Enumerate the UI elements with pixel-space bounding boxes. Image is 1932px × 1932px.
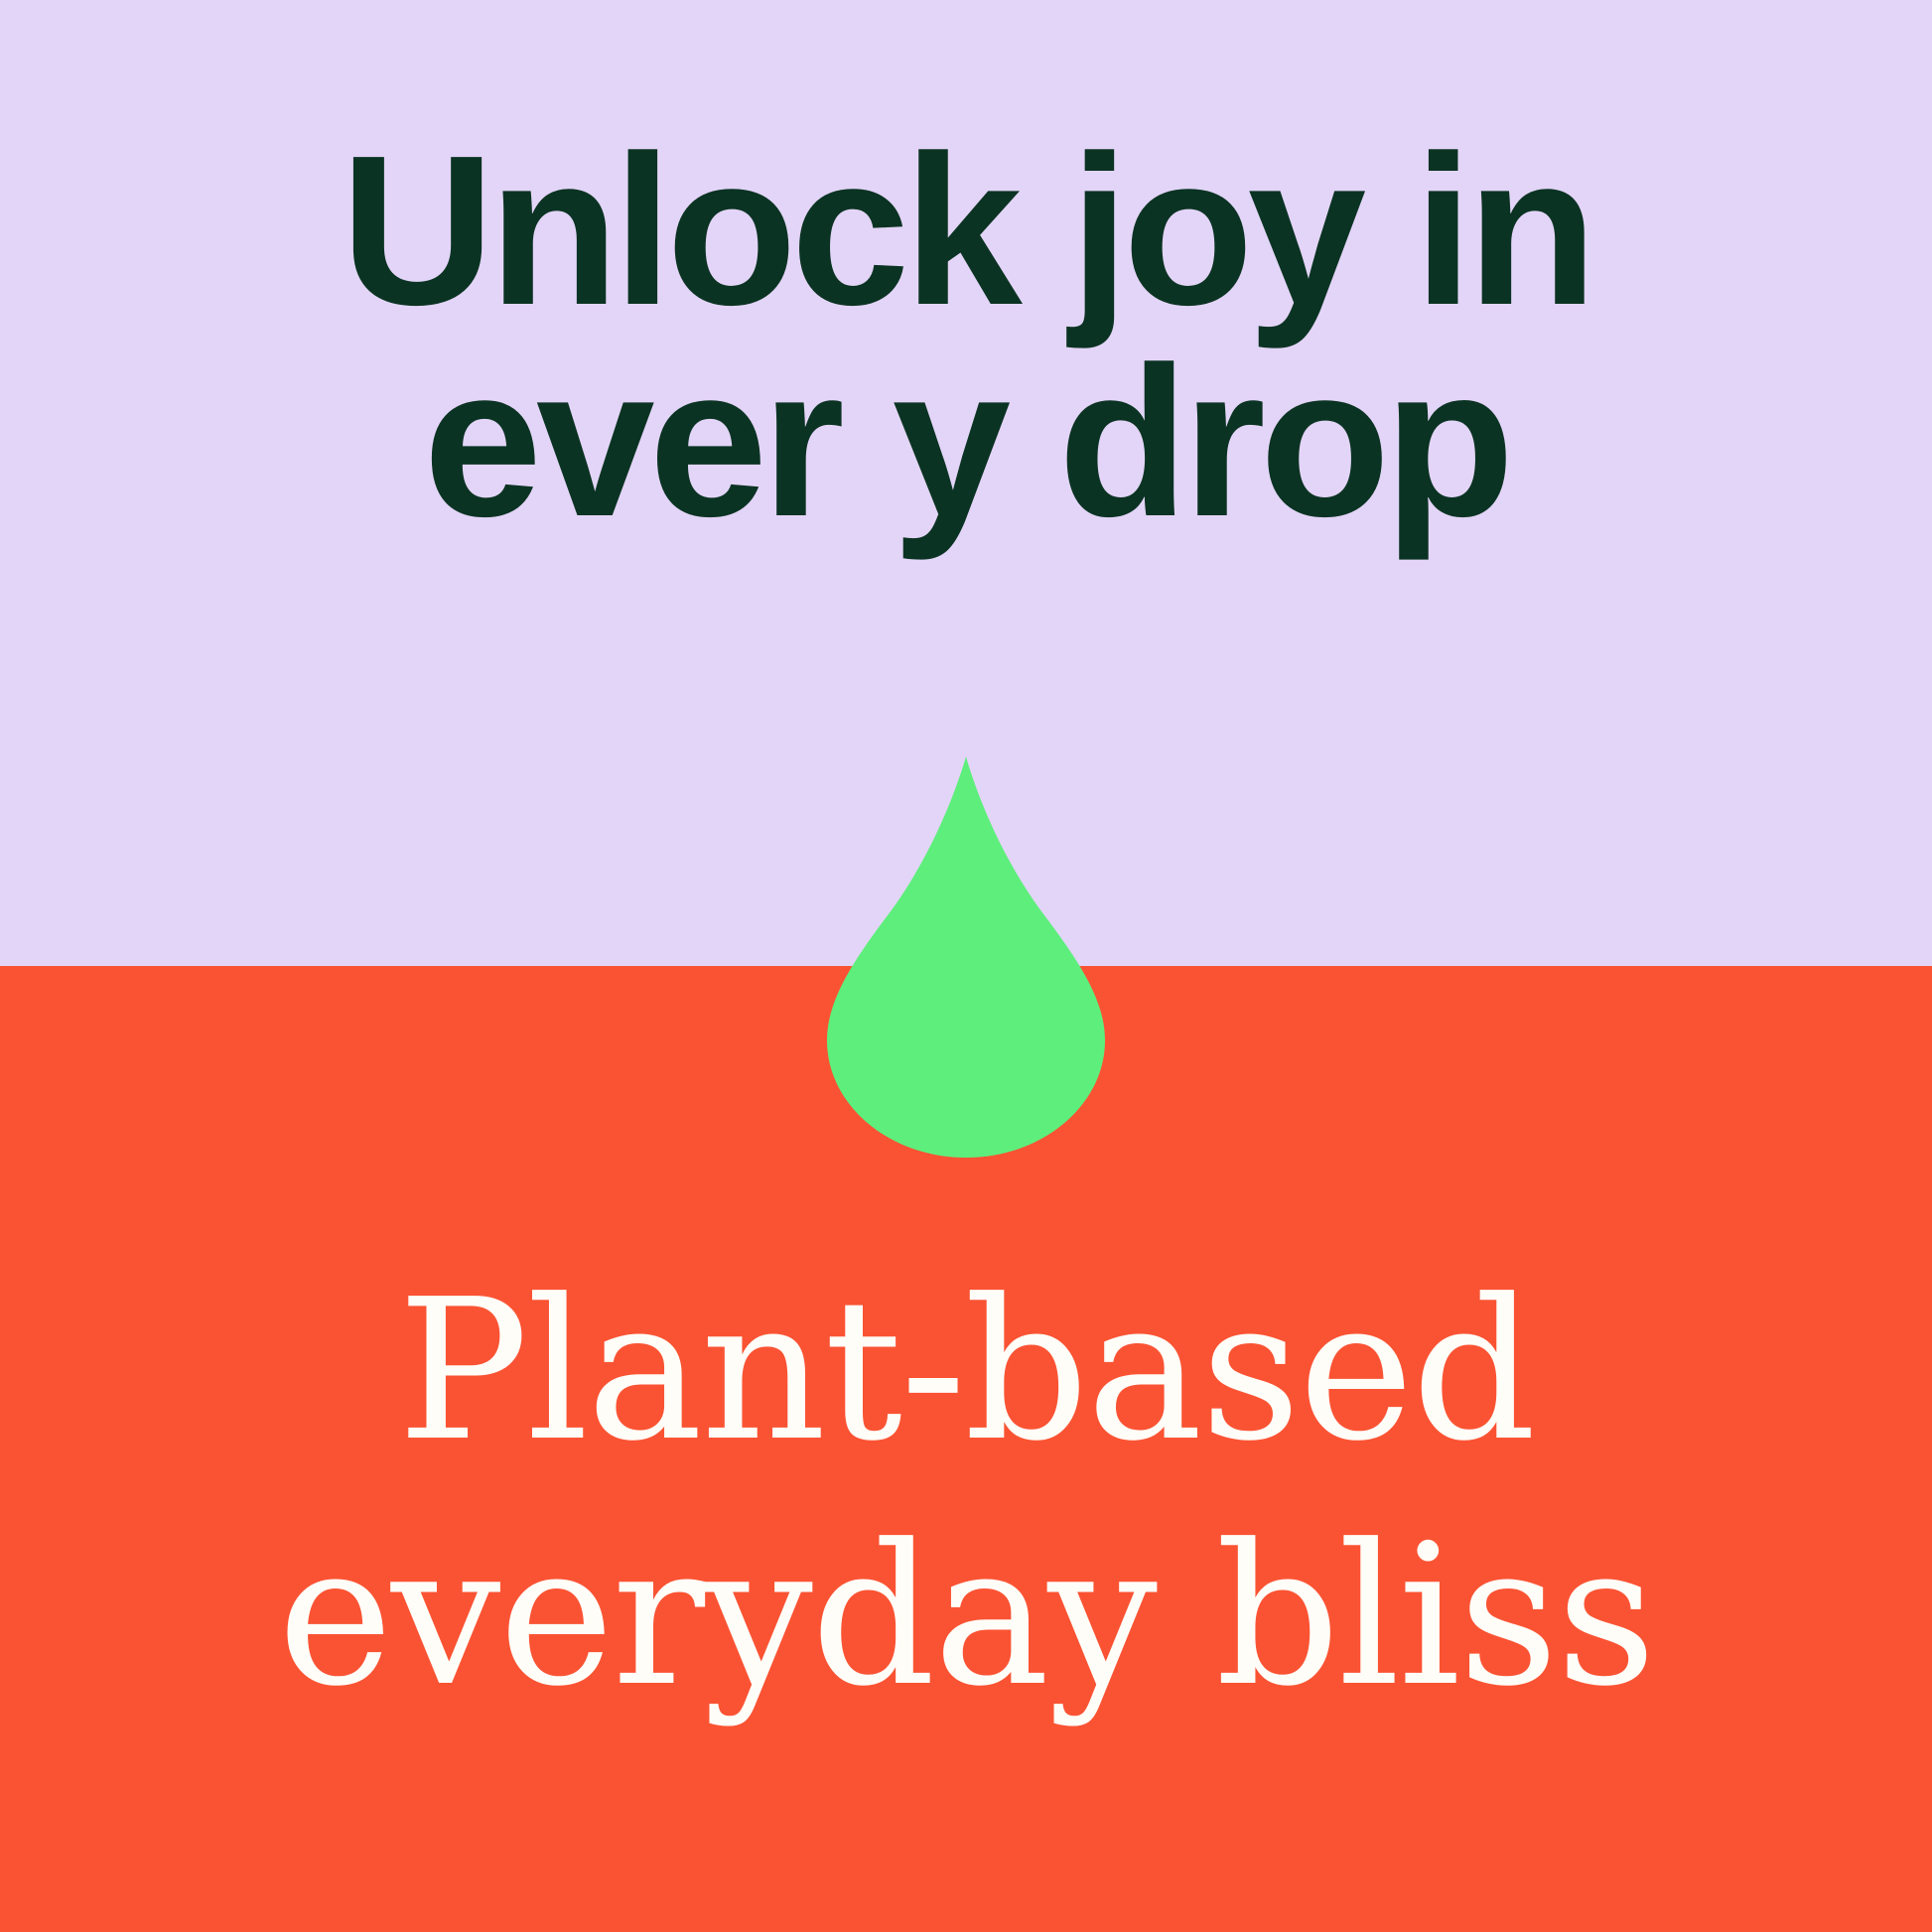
subhead-text: Plant-based everyday bliss	[0, 1249, 1932, 1739]
water-drop-icon	[827, 757, 1105, 1158]
poster-canvas: Unlock joy in ever y drop Plant-based ev…	[0, 0, 1932, 1932]
headline-text: Unlock joy in ever y drop	[0, 125, 1932, 548]
